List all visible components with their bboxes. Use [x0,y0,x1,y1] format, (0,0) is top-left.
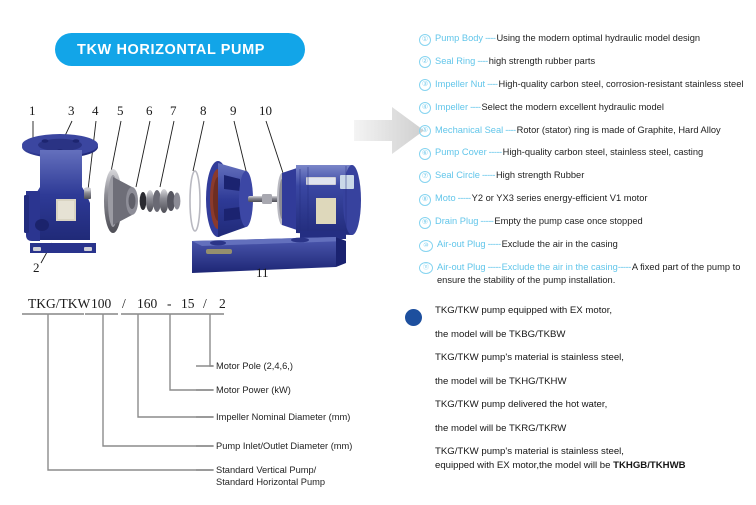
leader-ticks [196,366,213,470]
bullet-icon [405,309,422,326]
seal-circle-part [190,171,200,231]
variant-line: TKG/TKW pump's material is stainless ste… [435,352,755,363]
leader-label-pump-type-2: Standard Horizontal Pump [216,477,325,487]
svg-text:2: 2 [33,260,40,275]
legend-description: Y2 or YX3 series energy-efficient V1 mot… [472,193,648,204]
motor-part [248,165,361,239]
svg-text:4: 4 [92,103,99,118]
legend-item: ⑥ Pump Cover ----- High-quality carbon s… [419,147,753,160]
legend-item: ③ Impeller Nut ---- High-quality carbon … [419,79,753,92]
legend-number: ⑪ [419,262,433,274]
leader-labels: Motor Pole (2,4,6,) Motor Power (kW) Imp… [216,361,352,487]
legend-item: ⑤ Mechanical Seal ---- Rotor (stator) ri… [419,125,753,138]
legend-dash-2: ----- [618,262,631,272]
model-token-pole: 2 [219,296,226,311]
model-token-impeller: 160 [137,296,158,311]
legend-part-name: Pump Cover [435,147,487,158]
legend-item: ⑩ Air-out Plug ----- Exclude the air in … [419,239,753,252]
leader-label-pump-type: Standard Vertical Pump/ [216,465,317,475]
legend-item-11: ⑪ Air-out Plug-----Exclude the air in th… [419,262,753,286]
leader-label-motor-pole: Motor Pole (2,4,6,) [216,361,293,371]
legend-description: Empty the pump case once stopped [494,216,642,227]
legend-part-name: Seal Circle [435,170,480,181]
legend-part-name: Impeller Nut [435,79,485,90]
legend-item: ⑨ Drain Plug ----- Empty the pump case o… [419,216,753,229]
variant-line: the model will be TKRG/TKRW [435,423,755,434]
legend-dash: ---- [485,33,495,44]
legend-part-name: Air-out Plug [437,262,486,272]
leader-label-motor-power: Motor Power (kW) [216,385,291,395]
model-token-inlet: 100 [91,296,112,311]
legend-part-name: Impeller [435,102,468,113]
variant-line: TKG/TKW pump delivered the hot water, [435,399,755,410]
legend-part-name: Mechanical Seal [435,125,503,136]
model-token-slash1: / [122,296,126,311]
svg-text:11: 11 [256,265,269,280]
model-string: TKG/TKW 100 / 160 - 15 / 2 [28,296,226,311]
model-token-slash2: / [203,296,207,311]
legend-number: ④ [419,102,431,114]
svg-text:5: 5 [117,103,124,118]
legend-dash: ----- [482,170,495,181]
mechanical-seal-part [140,189,181,213]
legend-description: Select the modern excellent hydraulic mo… [481,102,663,113]
model-token-power: 15 [181,296,195,311]
legend-number: ① [419,34,431,46]
variant-line: the model will be TKHG/TKHW [435,376,755,387]
variant-line: TKG/TKW pump equipped with EX motor, [435,305,755,316]
legend-description: High-quality carbon steel, corrosion-res… [499,79,744,90]
legend-dash: ---- [505,125,515,136]
variant-line-last: equipped with EX motor,the model will be… [435,460,755,471]
pump-cover-part [206,161,253,237]
legend-part-name: Drain Plug [435,216,478,227]
legend-description: High strength Rubber [496,170,584,181]
model-token-series: TKG/TKW [28,296,90,311]
legend-number: ⑥ [419,148,431,160]
impeller-nut-part [84,187,91,199]
legend-dash: ----- [489,147,502,158]
legend-item: ② Seal Ring ---- high strength rubber pa… [419,56,753,69]
leader-label-impeller-dia: Impeller Nominal Diameter (mm) [216,412,350,422]
variant-line: TKG/TKW pump's material is stainless ste… [435,446,755,457]
svg-text:6: 6 [146,103,153,118]
impeller-part [104,169,138,233]
variant-last-model: TKHGB/TKHWB [613,460,685,471]
legend-number: ⑤ [419,125,431,137]
legend-dash: ---- [477,56,487,67]
legend-item: ⑦ Seal Circle ----- High strength Rubber [419,170,753,183]
legend-dash: ---- [470,102,480,113]
leader-label-inlet-dia: Pump Inlet/Outlet Diameter (mm) [216,441,352,451]
legend-item: ⑧ Moto ----- Y2 or YX3 series energy-eff… [419,193,753,206]
legend-number: ⑨ [419,217,431,229]
variant-last-prefix: equipped with EX motor,the model will be [435,460,613,471]
legend-number: ⑦ [419,171,431,183]
component-legend-list: ① Pump Body ---- Using the modern optima… [419,33,753,296]
legend-description: Rotor (stator) ring is made of Graphite,… [517,125,721,136]
legend-description-blue: Exclude the air in the casing [502,262,618,272]
model-naming-diagram: TKG/TKW 100 / 160 - 15 / 2 [0,292,400,500]
leader-lines [48,314,213,470]
model-variants-block: TKG/TKW pump equipped with EX motor, the… [405,305,755,484]
pump-exploded-diagram: 1 3 4 5 6 7 8 9 10 2 11 [0,95,400,290]
legend-dash: ----- [488,262,501,272]
svg-text:9: 9 [230,103,237,118]
legend-part-name: Air-out Plug [437,239,486,250]
legend-description: High-quality carbon steel, stainless ste… [503,147,704,158]
legend-dash: ----- [458,193,471,204]
transition-arrow-icon [352,103,427,158]
legend-part-name: Pump Body [435,33,483,44]
legend-dash: ---- [487,79,497,90]
model-token-hyphen: - [167,296,172,311]
svg-text:8: 8 [200,103,207,118]
svg-text:10: 10 [259,103,272,118]
legend-description-black: A fixed part of the pump to [632,262,741,272]
page-title: TKW HORIZONTAL PUMP [77,42,265,58]
svg-text:3: 3 [68,103,75,118]
legend-description-line2: ensure the stability of the pump install… [437,275,740,286]
base-plate-part [192,237,346,273]
legend-item: ① Pump Body ---- Using the modern optima… [419,33,753,46]
pump-spec-sheet: TKW HORIZONTAL PUMP [0,0,756,500]
legend-part-name: Seal Ring [435,56,475,67]
legend-description: Using the modern optimal hydraulic model… [496,33,700,44]
legend-description: Exclude the air in the casing [502,239,618,250]
variant-line: the model will be TKBG/TKBW [435,329,755,340]
header-banner: TKW HORIZONTAL PUMP [55,33,305,66]
svg-text:1: 1 [29,103,36,118]
legend-number: ③ [419,79,431,91]
legend-item: ④ Impeller ---- Select the modern excell… [419,102,753,115]
legend-dash: ----- [480,216,493,227]
legend-number: ⑩ [419,240,433,252]
legend-part-name: Moto [435,193,456,204]
svg-text:7: 7 [170,103,177,118]
legend-number: ⑧ [419,194,431,206]
legend-description: high strength rubber parts [489,56,595,67]
legend-dash: ----- [488,239,501,250]
legend-number: ② [419,56,431,68]
